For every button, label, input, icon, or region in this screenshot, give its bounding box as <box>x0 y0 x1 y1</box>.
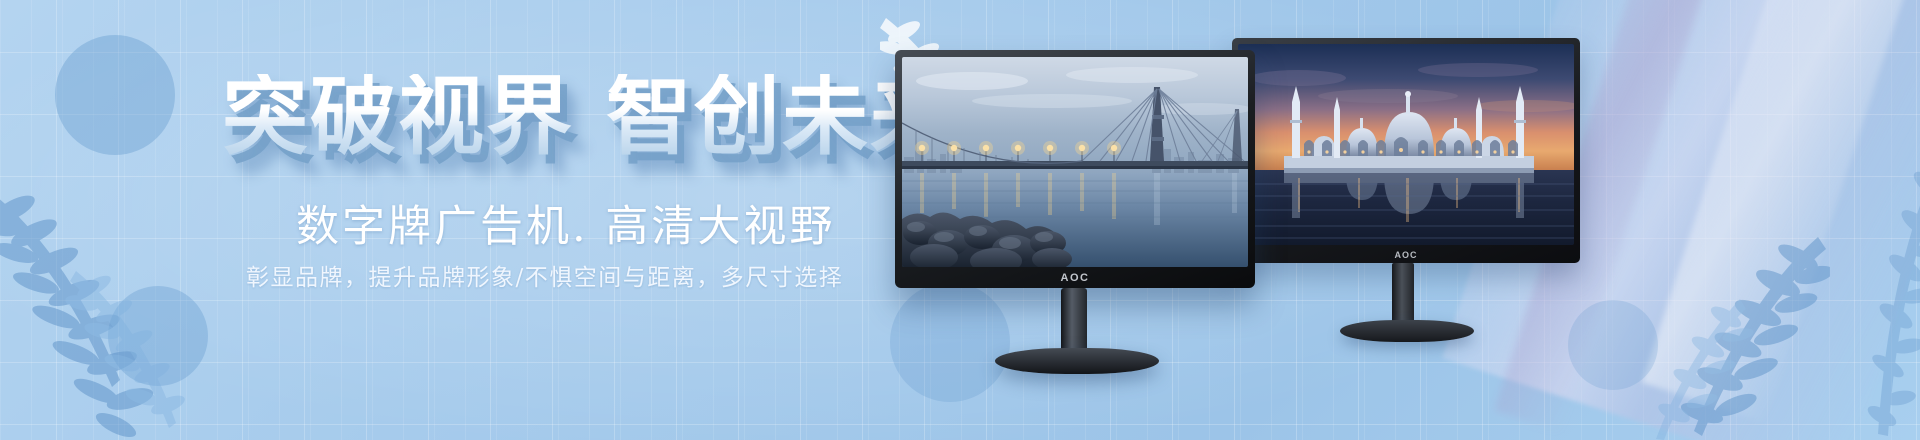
monitor-secondary-stand-base <box>1340 320 1474 342</box>
monitor-primary-brand-logo: AOC <box>1061 272 1090 284</box>
banner-tagline: 彰显品牌，提升品牌形象/不惧空间与距离，多尺寸选择 <box>246 258 843 292</box>
monitor-secondary-brand-logo: AOC <box>1395 250 1418 260</box>
monitor-primary-screen <box>902 57 1248 267</box>
monitor-primary-stand-base <box>995 348 1159 374</box>
monitor-primary-bezel: AOC <box>895 50 1255 288</box>
banner-text-block: 突破视界 智创未来 数字牌广告机. 高清大视野 彰显品牌，提升品牌形象/不惧空间… <box>0 0 1000 440</box>
monitor-secondary-stand-neck <box>1392 263 1414 325</box>
promo-banner: 突破视界 智创未来 数字牌广告机. 高清大视野 彰显品牌，提升品牌形象/不惧空间… <box>0 0 1920 440</box>
monitor-primary: AOC <box>895 50 1315 370</box>
banner-subtitle: 数字牌广告机. 高清大视野 <box>296 192 835 254</box>
banner-headline: 突破视界 智创未来 <box>222 74 958 160</box>
monitor-primary-stand-neck <box>1061 288 1087 354</box>
